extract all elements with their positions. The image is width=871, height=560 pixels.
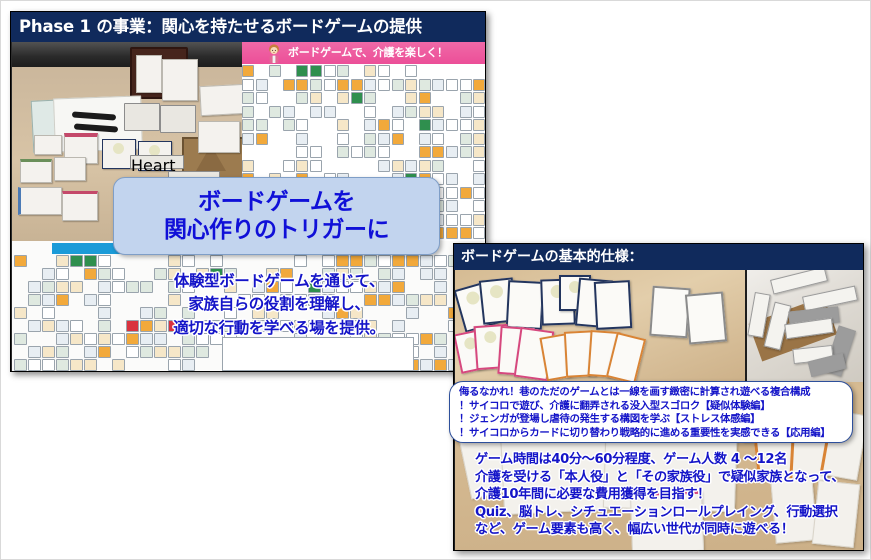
board-tile — [98, 307, 111, 319]
board-tile — [256, 92, 268, 104]
callout-white-box: 侮るなかれ！巷のただのゲームとは一線を画す緻密に計算され遊べる複合構成 ！サイコ… — [449, 381, 853, 443]
board-tile — [56, 268, 69, 280]
board-tile — [42, 307, 55, 319]
board-tile — [56, 359, 69, 371]
board-tile — [269, 106, 281, 118]
board-tile — [196, 346, 209, 358]
board-tile — [434, 346, 447, 358]
board-tile — [419, 119, 431, 131]
board-tile — [154, 346, 167, 358]
board-tile — [364, 255, 377, 267]
board-tile — [419, 160, 431, 172]
standing-card — [136, 55, 162, 93]
board-tile — [283, 160, 295, 172]
board-tile — [112, 281, 125, 293]
left-paragraph: 体験型ボードゲームを通じて、 家族自らの役割を理解し、 適切な行動を学べる場を提… — [129, 270, 429, 340]
board-tile — [420, 359, 433, 371]
right-paragraph-line3: 介護10年間に必要な費用獲得を目指す！ — [475, 486, 870, 504]
board-tile — [98, 294, 111, 306]
board-tile — [378, 133, 390, 145]
board-tile — [269, 65, 281, 77]
pink-banner: ボードゲームで、介護を楽しく！ — [242, 41, 486, 64]
board-tile — [405, 92, 417, 104]
board-tile — [42, 294, 55, 306]
right-panel-title: ボードゲームの基本的仕様： — [454, 244, 864, 270]
board-tile — [432, 79, 444, 91]
board-tile — [84, 268, 97, 280]
board-tile — [446, 79, 458, 91]
board-tile — [296, 79, 308, 91]
board-tile — [434, 268, 447, 280]
board-tile — [242, 160, 254, 172]
board-tile — [473, 146, 485, 158]
board-tile — [210, 255, 223, 267]
board-tile — [351, 92, 363, 104]
board-tile — [473, 173, 485, 185]
board-tile — [98, 281, 111, 293]
board-tile — [337, 146, 349, 158]
board-tile — [420, 255, 433, 267]
board-tile — [283, 79, 295, 91]
board-tile — [283, 106, 295, 118]
board-tile — [296, 92, 308, 104]
board-tile — [324, 106, 336, 118]
board-tile — [168, 255, 181, 267]
negative-card-deck — [506, 280, 544, 330]
game-card — [34, 135, 62, 155]
board-tile — [182, 255, 195, 267]
board-tile — [98, 346, 111, 358]
board-tile — [434, 359, 447, 371]
board-tile — [392, 255, 405, 267]
board-tile — [14, 255, 27, 267]
board-tile — [446, 200, 458, 212]
board-tile — [324, 65, 336, 77]
right-paragraph-line5: など、ゲーム要素も高く、幅広い世代が同時に遊べる！ — [475, 521, 870, 539]
board-tile — [432, 133, 444, 145]
left-paragraph-line1: 体験型ボードゲームを通じて、 — [129, 270, 429, 293]
game-card — [62, 191, 98, 221]
board-tile — [296, 146, 308, 158]
board-tile — [242, 119, 254, 131]
board-tile — [378, 255, 391, 267]
board-tile — [296, 119, 308, 131]
board-tile — [70, 359, 83, 371]
board-tile — [446, 146, 458, 158]
board-tile — [419, 146, 431, 158]
board-tile — [168, 359, 181, 371]
piece-tray — [160, 105, 196, 133]
board-tile — [98, 268, 111, 280]
board-tile — [28, 359, 41, 371]
board-tile — [112, 333, 125, 345]
board-tile — [310, 160, 322, 172]
board-tile — [446, 187, 458, 199]
board-tile — [473, 79, 485, 91]
board-tile — [84, 294, 97, 306]
board-tile — [56, 255, 69, 267]
board-tile — [70, 281, 83, 293]
board-tile — [473, 160, 485, 172]
board-tile — [242, 133, 254, 145]
board-tile — [56, 346, 69, 358]
board-tile — [256, 79, 268, 91]
board-tile — [168, 346, 181, 358]
negative-card — [594, 280, 632, 330]
board-tile — [364, 133, 376, 145]
board-tile — [446, 227, 458, 239]
board-tile — [446, 119, 458, 131]
board-tile — [392, 106, 404, 118]
board-tile — [28, 320, 41, 332]
board-tile — [337, 79, 349, 91]
board-tile — [434, 294, 447, 306]
board-tile — [98, 320, 111, 332]
board-tile — [378, 146, 390, 158]
board-tile — [351, 146, 363, 158]
board-tile — [473, 119, 485, 131]
board-tile — [405, 65, 417, 77]
board-tile — [84, 359, 97, 371]
board-tile — [378, 65, 390, 77]
board-tile — [70, 333, 83, 345]
standing-card — [162, 59, 198, 101]
left-paragraph-line3: 適切な行動を学べる場を提供。 — [129, 317, 429, 340]
board-tile — [296, 65, 308, 77]
photo-game-cards — [455, 269, 745, 382]
board-tile — [56, 281, 69, 293]
board-tile — [350, 255, 363, 267]
board-tile — [337, 133, 349, 145]
board-tile — [473, 214, 485, 226]
board-tile — [256, 133, 268, 145]
board-tile — [310, 65, 322, 77]
board-tile — [460, 106, 472, 118]
callout-white-line3: ！ジェンガが登場し虐待の発生する構図を学ぶ【ストレス体感編】 — [459, 413, 846, 427]
right-paragraph: ゲーム時間は40分～60分程度、ゲーム人数 4 ～12名 介護を受ける「本人役」… — [475, 451, 870, 539]
board-tile — [446, 173, 458, 185]
callout-white-line1: 侮るなかれ！巷のただのゲームとは一線を画す緻密に計算され遊べる複合構成 — [459, 386, 846, 400]
board-tile — [256, 119, 268, 131]
game-card — [54, 157, 86, 181]
right-paragraph-line4: Quiz、脳トレ、シチュエーションロールプレイング、行動選択 — [475, 504, 870, 522]
board-tile — [460, 79, 472, 91]
info-card — [198, 121, 240, 153]
board-tile — [405, 79, 417, 91]
board-tile — [434, 333, 447, 345]
callout-blue-box: ボードゲームを 関心作りのトリガーに — [113, 177, 440, 255]
board-tile — [446, 214, 458, 226]
info-card — [199, 84, 242, 116]
board-tile — [392, 79, 404, 91]
board-tile — [70, 255, 83, 267]
board-tile — [242, 79, 254, 91]
board-tile — [434, 281, 447, 293]
board-tile — [324, 79, 336, 91]
board-tile — [337, 65, 349, 77]
board-tile — [460, 187, 472, 199]
board-tile — [14, 333, 27, 345]
board-tile — [351, 79, 363, 91]
board-tile — [112, 268, 125, 280]
board-tile — [14, 359, 27, 371]
board-tile — [378, 119, 390, 131]
board-tile — [182, 346, 195, 358]
board-tile — [28, 281, 41, 293]
right-paragraph-line2: 介護を受ける「本人役」と「その家族役」で疑似家族となって、 — [475, 469, 870, 487]
board-tile — [242, 106, 254, 118]
board-tile — [56, 320, 69, 332]
board-tile — [126, 346, 139, 358]
board-tile — [460, 227, 472, 239]
board-tile — [42, 359, 55, 371]
board-tile — [42, 281, 55, 293]
board-tile — [70, 320, 83, 332]
board-tile — [28, 346, 41, 358]
left-panel: Heart Joint BANK ボードゲームで、介護を楽しく！ — [10, 11, 486, 372]
board-tile — [364, 79, 376, 91]
board-tile — [56, 294, 69, 306]
right-paragraph-line1: ゲーム時間は40分～60分程度、ゲーム人数 4 ～12名 — [475, 451, 870, 469]
callout-white-line4: ！サイコロからカードに切り替わり戦略的に進める重要性を実感できる【応用編】 — [459, 427, 846, 441]
board-tile — [364, 106, 376, 118]
board-tile — [364, 146, 376, 158]
board-tile — [283, 119, 295, 131]
board-tile — [310, 92, 322, 104]
board-tile — [460, 146, 472, 158]
board-tile — [392, 133, 404, 145]
card-stack — [649, 286, 690, 339]
left-paragraph-line2: 家族自らの役割を理解し、 — [129, 293, 429, 316]
board-tile — [182, 359, 195, 371]
board-tile — [28, 294, 41, 306]
board-tile — [392, 119, 404, 131]
board-tile — [392, 160, 404, 172]
board-tile — [419, 92, 431, 104]
board-tile — [434, 255, 447, 267]
board-tile — [405, 160, 417, 172]
board-tile — [378, 160, 390, 172]
board-tile — [84, 333, 97, 345]
money-tile — [770, 269, 828, 295]
board-tile — [419, 79, 431, 91]
board-tile — [460, 133, 472, 145]
board-tile — [364, 92, 376, 104]
pink-banner-text: ボードゲームで、介護を楽しく！ — [288, 46, 448, 59]
board-tile — [473, 106, 485, 118]
card-stack — [685, 291, 727, 344]
board-tile — [432, 160, 444, 172]
board-tile — [112, 359, 125, 371]
caregiver-character-icon — [264, 43, 284, 63]
board-tile — [378, 79, 390, 91]
board-tile — [432, 146, 444, 158]
board-tile — [473, 187, 485, 199]
board-tile — [42, 346, 55, 358]
game-card — [20, 159, 52, 183]
board-tile — [364, 65, 376, 77]
board-tile — [460, 119, 472, 131]
piece-tray — [124, 103, 160, 131]
window-background — [12, 41, 242, 67]
board-tile — [42, 320, 55, 332]
board-tile — [242, 65, 254, 77]
photo-money-and-bank — [747, 269, 864, 382]
board-tile — [14, 307, 27, 319]
board-tile — [242, 92, 254, 104]
board-tile — [364, 119, 376, 131]
board-tile — [310, 106, 322, 118]
slide-canvas: Heart Joint BANK ボードゲームで、介護を楽しく！ — [0, 0, 871, 560]
board-tile — [473, 227, 485, 239]
board-tile — [310, 79, 322, 91]
game-card — [18, 187, 62, 215]
board-tile — [460, 92, 472, 104]
callout-white-line2: ！サイコロで遊び、介護に翻弄される没入型スゴロク【疑似体験編】 — [459, 400, 846, 414]
board-tile — [140, 346, 153, 358]
board-tile — [460, 214, 472, 226]
board-tile — [98, 333, 111, 345]
board-tile — [473, 200, 485, 212]
board-tile — [419, 133, 431, 145]
board-tile — [473, 133, 485, 145]
board-tile — [296, 133, 308, 145]
board-tile — [405, 106, 417, 118]
board-tile — [406, 255, 419, 267]
board-tile — [56, 333, 69, 345]
legend-table — [222, 337, 414, 371]
board-tile — [98, 255, 111, 267]
board-tile — [432, 106, 444, 118]
board-tile — [84, 346, 97, 358]
board-tile — [419, 106, 431, 118]
board-tile — [42, 268, 55, 280]
board-tile — [473, 92, 485, 104]
board-tile — [294, 255, 307, 267]
board-tile — [432, 119, 444, 131]
callout-blue-line2: 関心作りのトリガーに — [164, 216, 389, 244]
left-panel-title: Phase 1 の事業：関心を持たせるボードゲームの提供 — [11, 12, 486, 42]
bank-label: Heart Joint BANK — [130, 155, 184, 169]
board-tile — [322, 255, 335, 267]
board-tile — [337, 92, 349, 104]
board-tile — [310, 146, 322, 158]
board-tile — [84, 255, 97, 267]
board-tile — [336, 255, 349, 267]
board-tile — [296, 160, 308, 172]
board-tile — [337, 119, 349, 131]
callout-blue-line1: ボードゲームを — [198, 188, 355, 216]
